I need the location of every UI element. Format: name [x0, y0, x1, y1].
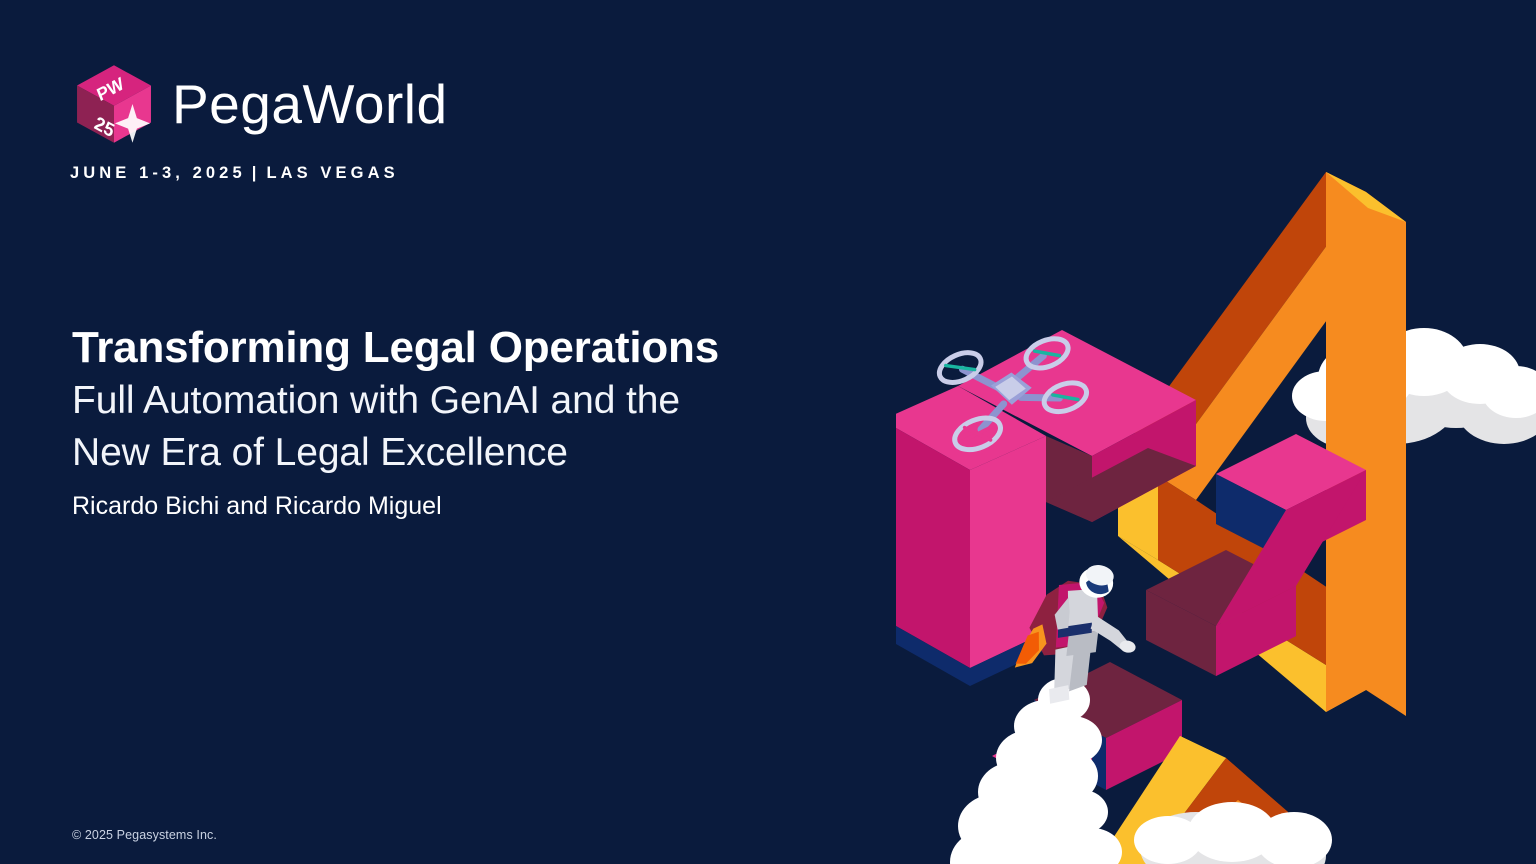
title-block: Transforming Legal Operations Full Autom…	[72, 322, 912, 522]
event-details: JUNE 1-3, 2025|LAS VEGAS	[70, 164, 448, 183]
isometric-artwork-svg	[896, 0, 1536, 864]
slide-subtitle-line-1: Full Automation with GenAI and the	[72, 377, 912, 425]
hero-illustration	[896, 0, 1536, 864]
presentation-slide: PW 25 PegaWorld JUNE 1-3, 2025|LAS VEGAS…	[0, 0, 1536, 864]
pegaworld-wordmark: PegaWorld	[172, 77, 448, 132]
presenter-names: Ricardo Bichi and Ricardo Miguel	[72, 490, 912, 523]
event-location: LAS VEGAS	[266, 164, 398, 182]
slide-title: Transforming Legal Operations	[72, 322, 912, 373]
pegaworld-cube-icon: PW 25	[70, 60, 158, 148]
event-date: JUNE 1-3, 2025	[70, 164, 246, 182]
logo-row: PW 25 PegaWorld	[70, 60, 448, 148]
slide-subtitle-line-2: New Era of Legal Excellence	[72, 429, 912, 477]
pegaworld-logo-block: PW 25 PegaWorld JUNE 1-3, 2025|LAS VEGAS	[70, 60, 448, 183]
event-separator: |	[246, 164, 267, 182]
copyright-notice: © 2025 Pegasystems Inc.	[72, 828, 217, 842]
